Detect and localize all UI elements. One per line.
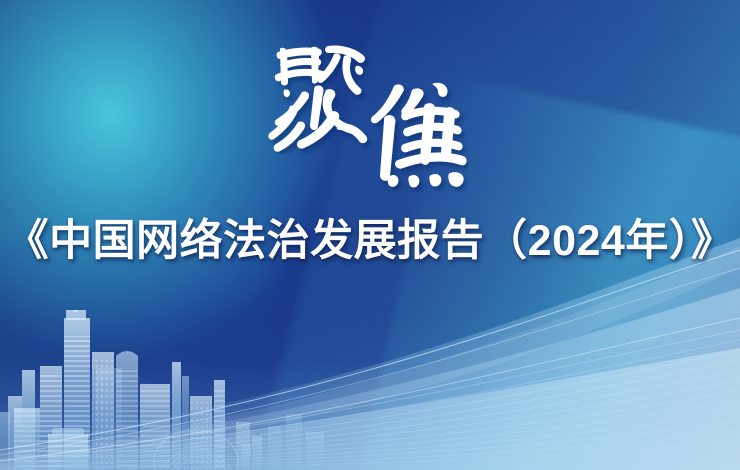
report-title: 《中国网络法治发展报告（2024年）》 (6, 220, 735, 263)
feature-banner: 《中国网络法治发展报告（2024年）》 (0, 0, 740, 470)
report-title-row: 《中国网络法治发展报告（2024年）》 (0, 203, 740, 279)
